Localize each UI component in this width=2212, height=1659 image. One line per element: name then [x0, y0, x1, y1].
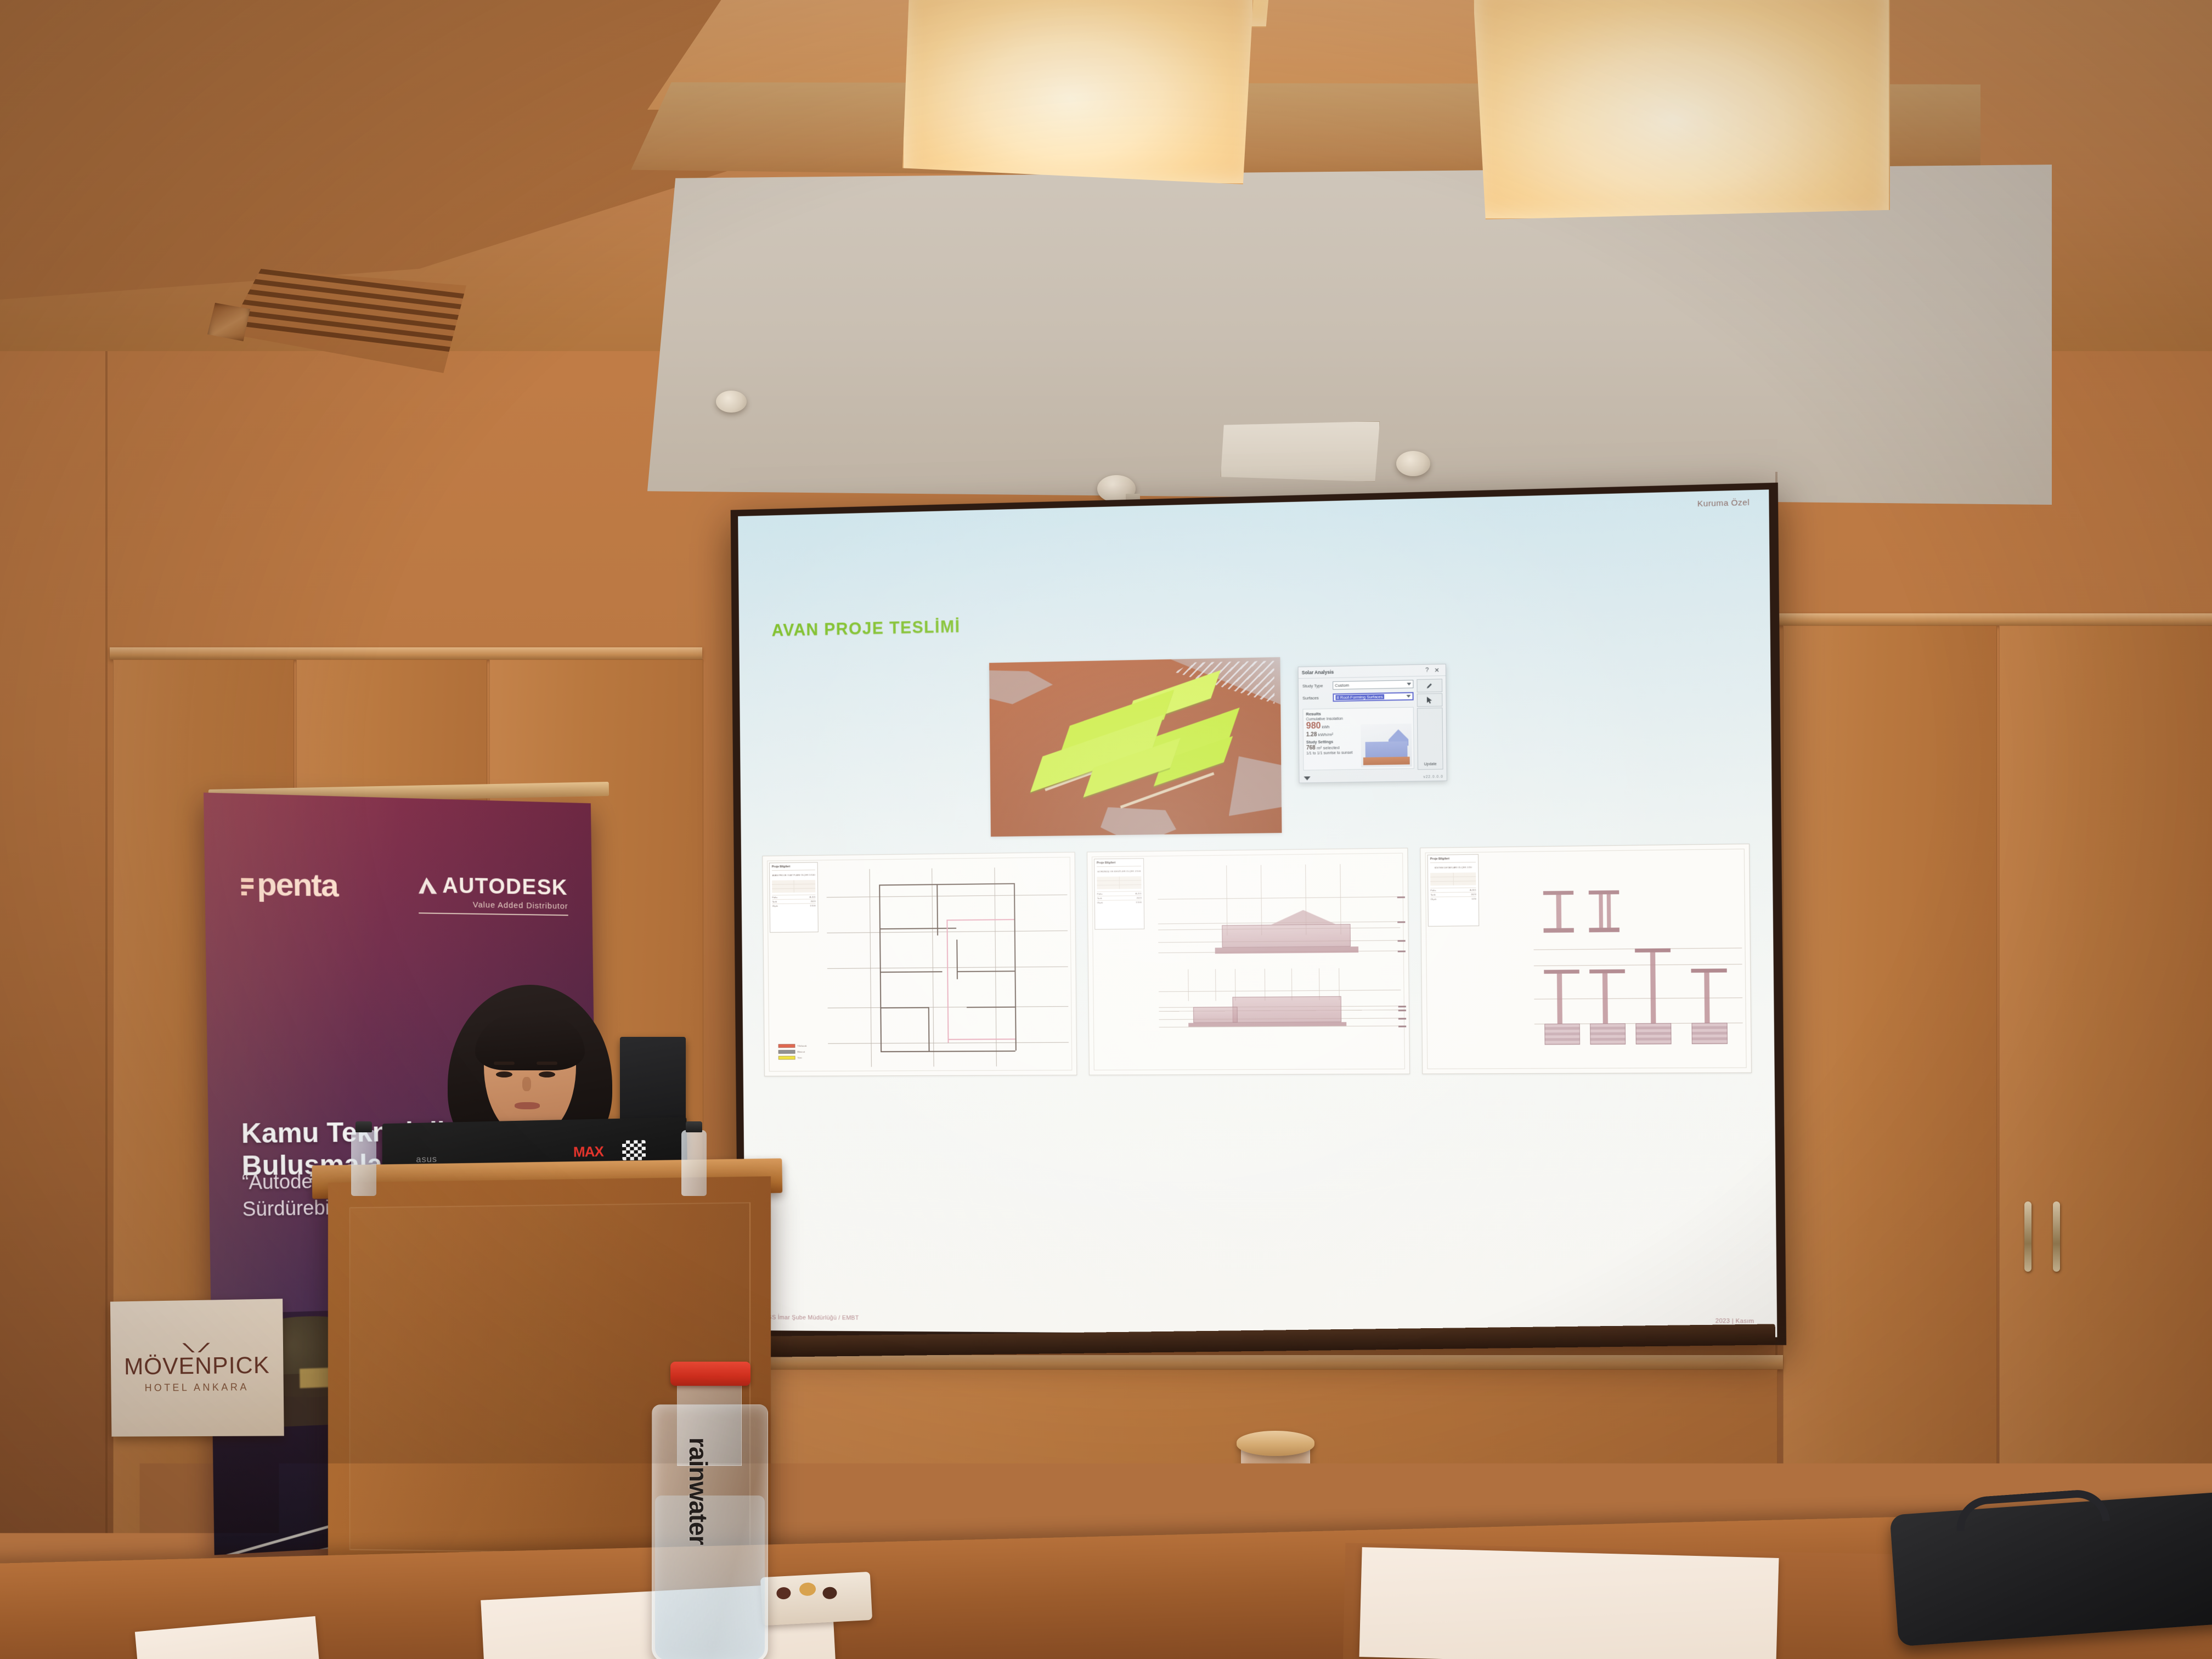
- drawing-legend: Yıkılacak Mevcut Yeni: [778, 1044, 807, 1062]
- slide-phase-nav: ANALİZ TASARIM OPERASYON: [738, 518, 1770, 596]
- glass-body: [1241, 1444, 1310, 1620]
- eyebrow: [537, 1062, 557, 1065]
- chevron-down-icon: [1406, 695, 1410, 698]
- drawing-sheet-elevations: Proje Bilgileri GÖRÜNÜŞ VE KESİTLER ÖLÇE…: [1087, 848, 1410, 1075]
- wall-rail-lower: [708, 1355, 1783, 1369]
- conference-room-photo: Kuruma Özel ANALİZ TASARIM OPERASYON AVA…: [0, 0, 2212, 1659]
- titleblock-key: Tarih: [1097, 896, 1102, 899]
- thumbnail-base: [1363, 757, 1410, 765]
- chevron-down-icon: [1407, 682, 1411, 685]
- terrain-blob: [1228, 755, 1282, 816]
- autodesk-partner-label: Value Added Distributor: [419, 899, 568, 911]
- study-type-value: Custom: [1335, 682, 1349, 688]
- carafe-label: rainwater: [684, 1437, 713, 1545]
- autodesk-logo: AUTODESK Value Added Distributor: [418, 873, 568, 916]
- surfaces-row: Surfaces 8 Roof-Forming Surfaces: [1302, 692, 1414, 702]
- slide-subtitle: AVAN PROJE TESLİMİ: [772, 617, 961, 640]
- dish-item: [822, 1587, 837, 1599]
- wall-rail: [110, 647, 702, 659]
- titleblock-center: AVAN PROJE / KAT PLANI ÖLÇEK 1/100: [772, 873, 815, 877]
- titleblock-header: Proje Bilgileri: [772, 865, 815, 871]
- cursor-arrow-icon: [1426, 696, 1433, 704]
- movenpick-bird-icon: [180, 1343, 212, 1353]
- model-thumbnail: [1361, 724, 1412, 768]
- titleblock-key: Ölçek: [1097, 901, 1103, 904]
- paper-sheet: [1359, 1547, 1779, 1659]
- update-button[interactable]: Update: [1417, 708, 1443, 770]
- titleblock-header: Proje Bilgileri: [1097, 861, 1141, 867]
- hotel-location-name: HOTEL ANKARA: [145, 1381, 250, 1394]
- terrain-blob: [1101, 806, 1177, 837]
- titleblock-value: A-201: [1136, 892, 1142, 895]
- dish-item: [776, 1587, 791, 1599]
- projection-screen: Kuruma Özel ANALİZ TASARIM OPERASYON AVA…: [731, 483, 1787, 1345]
- dialog-version-tag: v22.0.0.0: [1423, 775, 1443, 780]
- study-type-row: Study Type Custom: [1302, 680, 1414, 690]
- legend-label: Yeni: [797, 1057, 802, 1059]
- drawing-sheets-row: Proje Bilgileri AVAN PROJE / KAT PLANI Ö…: [762, 844, 1752, 1076]
- titleblock-center: GÖRÜNÜŞ VE KESİTLER ÖLÇEK 1/100: [1097, 870, 1141, 874]
- study-type-label: Study Type: [1302, 683, 1330, 689]
- laptop-bag: [1889, 1492, 2212, 1647]
- help-icon[interactable]: ?: [1423, 667, 1431, 673]
- titleblock: Proje Bilgileri AVAN PROJE / KAT PLANI Ö…: [769, 862, 819, 933]
- titleblock-key: Tarih: [1430, 893, 1435, 896]
- ceiling-light-panel-front-right: [1473, 0, 1890, 219]
- construction-detail-drawing: [1487, 855, 1743, 1065]
- titleblock-value: A-101: [810, 895, 816, 898]
- ceiling-access-panel: [1221, 421, 1380, 482]
- drawing-sheet-details: Proje Bilgileri SİSTEM DETAYLARI ÖLÇEK 1…: [1420, 844, 1752, 1074]
- dialog-title: Solar Analysis: [1302, 669, 1334, 675]
- titleblock-key: Ölçek: [772, 904, 778, 907]
- selected-area-value: 768: [1306, 745, 1316, 751]
- ceiling-light-panel-front-left: [902, 0, 1254, 184]
- wall-seam: [105, 351, 108, 1659]
- surfaces-select[interactable]: 8 Roof-Forming Surfaces: [1333, 692, 1413, 702]
- mouth: [515, 1102, 540, 1109]
- legend-label: Yıkılacak: [797, 1045, 806, 1047]
- snack-dish: [760, 1572, 872, 1626]
- titleblock: Proje Bilgileri SİSTEM DETAYLARI ÖLÇEK 1…: [1427, 854, 1480, 927]
- legend-swatch: [778, 1050, 795, 1054]
- smoke-detector-icon: [716, 391, 747, 413]
- dialog-titlebar: Solar Analysis ? ✕: [1299, 664, 1446, 679]
- expand-triangle-icon[interactable]: [1304, 776, 1311, 780]
- door-handle[interactable]: [2053, 1201, 2060, 1272]
- water-bottle: [351, 1130, 376, 1196]
- titleblock-value: 1/20: [1471, 897, 1476, 900]
- pencil-icon: [1426, 682, 1434, 690]
- terrain-blob: [989, 669, 1053, 705]
- titleblock-value: 2023: [810, 900, 815, 902]
- water-carafe[interactable]: rainwater: [652, 1355, 768, 1659]
- solar-results-panel: Results Cumulative Insolation 980kWh 1.2…: [1302, 707, 1414, 771]
- slide-footer-right: 2023 | Kasım: [1716, 1318, 1754, 1325]
- titleblock-value: 2023: [1136, 896, 1141, 899]
- eye: [496, 1071, 512, 1077]
- titleblock-center: SİSTEM DETAYLARI ÖLÇEK 1/20: [1430, 866, 1476, 870]
- surfaces-value: 8 Roof-Forming Surfaces: [1335, 694, 1384, 700]
- insolation-intensity-unit: kWh/m²: [1318, 732, 1334, 737]
- smoke-detector-icon: [1396, 451, 1430, 476]
- door-panel-left[interactable]: [1999, 625, 2212, 1492]
- laptop-sticker-max: MAX: [573, 1143, 603, 1161]
- titleblock-header: Proje Bilgileri: [1430, 857, 1476, 863]
- titleblock-value: A-301: [1470, 888, 1476, 891]
- solar-analysis-dialog[interactable]: Solar Analysis ? ✕ Study Type Custom Sur…: [1298, 664, 1447, 783]
- dish-item: [799, 1582, 816, 1596]
- nose: [522, 1077, 531, 1091]
- podium-hotel-sign: MÖVENPICK HOTEL ANKARA: [110, 1299, 284, 1436]
- titleblock-key: Pafta: [1430, 889, 1436, 891]
- elevation-drawing-lower: [1154, 966, 1402, 1067]
- legend-swatch: [778, 1044, 795, 1048]
- glass-wooden-lid[interactable]: [1237, 1431, 1314, 1456]
- recessed-spotlight: [207, 303, 250, 341]
- titleblock: Proje Bilgileri GÖRÜNÜŞ VE KESİTLER ÖLÇE…: [1094, 858, 1144, 929]
- drawing-sheet-floor-plan: Proje Bilgileri AVAN PROJE / KAT PLANI Ö…: [762, 852, 1077, 1076]
- legend-label: Mevcut: [797, 1051, 805, 1053]
- wall-rail: [1778, 613, 2212, 625]
- wall-panel: [1783, 625, 1997, 1492]
- insolation-intensity-value: 1.28: [1306, 732, 1317, 738]
- revit-3d-solar-view: [989, 657, 1282, 837]
- carafe-lid[interactable]: [670, 1362, 751, 1386]
- titleblock-value: 1/100: [1136, 901, 1141, 904]
- penta-logo: penta: [241, 865, 338, 904]
- water-bottle: [681, 1130, 707, 1196]
- laptop-sticker-checker: [622, 1140, 646, 1160]
- cumulative-insolation-value: 980: [1306, 721, 1321, 731]
- pick-surface-button[interactable]: [1417, 679, 1442, 692]
- drinking-glass[interactable]: [1241, 1422, 1310, 1620]
- close-icon[interactable]: ✕: [1431, 667, 1442, 674]
- select-cursor-button[interactable]: [1417, 693, 1443, 707]
- penta-logo-text: penta: [257, 866, 338, 904]
- titleblock-key: Pafta: [1097, 892, 1103, 895]
- door-handle[interactable]: [2024, 1201, 2032, 1272]
- bottle-cap: [686, 1121, 702, 1132]
- study-type-select[interactable]: Custom: [1333, 680, 1413, 690]
- slide-footer-left: İGS İmar Şube Müdürlüğü / EMBT: [765, 1314, 859, 1322]
- eyebrow: [494, 1062, 515, 1065]
- presentation-slide: Kuruma Özel ANALİZ TASARIM OPERASYON AVA…: [738, 489, 1777, 1337]
- penta-mark-icon: [241, 876, 255, 898]
- bottle-cap: [356, 1121, 372, 1132]
- titleblock-key: Ölçek: [1431, 898, 1437, 900]
- titleblock-key: Tarih: [772, 900, 777, 903]
- titleblock-value: 1/100: [810, 904, 815, 907]
- selected-area-unit: m² selected: [1317, 745, 1340, 751]
- surfaces-label: Surfaces: [1302, 695, 1330, 701]
- eye: [539, 1071, 555, 1077]
- thumbnail-body: [1365, 741, 1408, 758]
- hotel-brand-name: MÖVENPICK: [124, 1352, 270, 1380]
- autodesk-logo-text: AUTODESK: [442, 873, 568, 900]
- cumulative-insolation-unit: kWh: [1322, 725, 1330, 729]
- floor-plan-drawing: [826, 867, 1069, 1067]
- slide-confidentiality-label: Kuruma Özel: [1697, 498, 1750, 509]
- titleblock-key: Pafta: [772, 896, 777, 899]
- autodesk-mark-icon: [419, 877, 437, 894]
- divider: [419, 912, 568, 916]
- results-header: Results: [1306, 710, 1410, 716]
- titleblock-value: 2023: [1471, 893, 1476, 895]
- legend-swatch: [778, 1056, 795, 1060]
